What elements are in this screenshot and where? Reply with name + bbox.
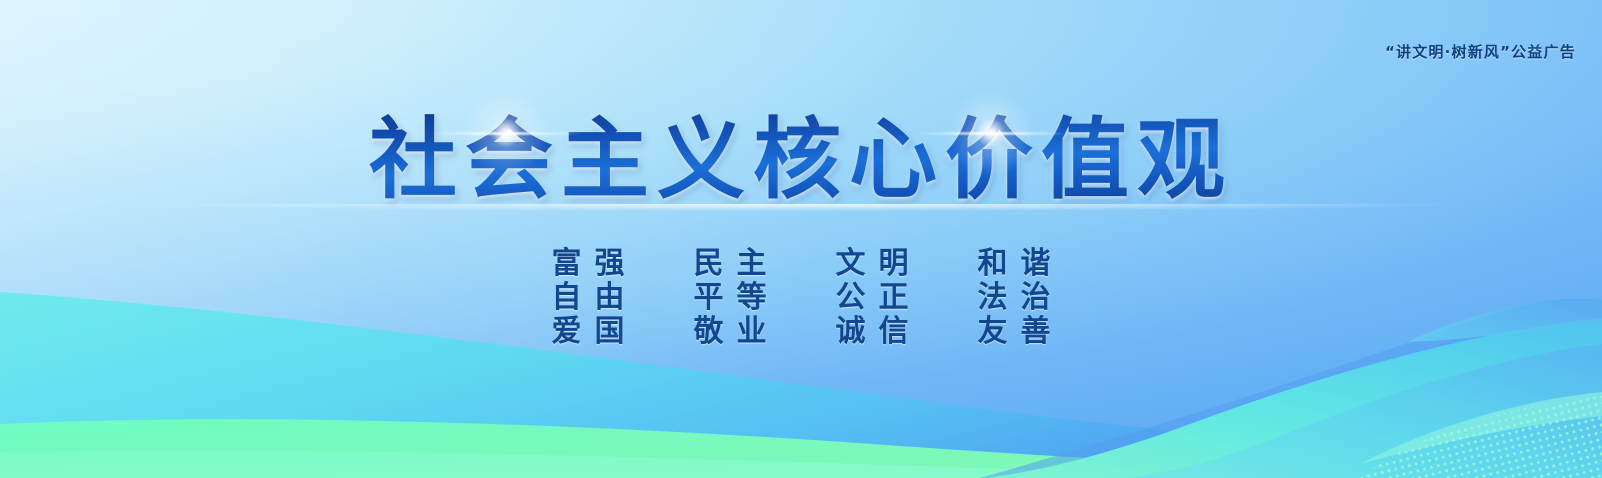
- public-service-banner: “讲文明·树新风”公益广告 社会主义核心价值观 富强 民主 文明 和谐 自由 平…: [0, 0, 1602, 478]
- decorative-waves: [0, 0, 1602, 478]
- page-title: 社会主义核心价值观: [363, 114, 1239, 212]
- value-word: 诚信: [823, 306, 922, 350]
- sparkle-glint-icon: [933, 75, 1049, 191]
- value-word: 平等: [681, 272, 780, 316]
- value-word: 富强: [539, 238, 638, 282]
- value-word: 友善: [965, 306, 1064, 350]
- core-values-grid: 富强 民主 文明 和谐 自由 平等 公正 法治 爱国 敬业 诚信 友善: [517, 243, 1085, 345]
- value-word: 公正: [823, 272, 922, 316]
- value-word: 自由: [539, 272, 638, 316]
- title-area: 社会主义核心价值观: [0, 114, 1602, 212]
- value-word: 民主: [681, 238, 780, 282]
- value-word: 法治: [965, 272, 1064, 316]
- value-word: 爱国: [539, 306, 638, 350]
- core-values-block: 富强 民主 文明 和谐 自由 平等 公正 法治 爱国 敬业 诚信 友善: [0, 243, 1602, 345]
- value-word: 敬业: [681, 306, 780, 350]
- value-word: 文明: [823, 238, 922, 282]
- value-word: 和谐: [965, 238, 1064, 282]
- sky-sheen-overlay: [0, 0, 1602, 478]
- sparkle-glint-icon: [448, 75, 564, 191]
- title-glow-base: [32, 204, 1570, 214]
- public-service-credit: “讲文明·树新风”公益广告: [1385, 41, 1576, 62]
